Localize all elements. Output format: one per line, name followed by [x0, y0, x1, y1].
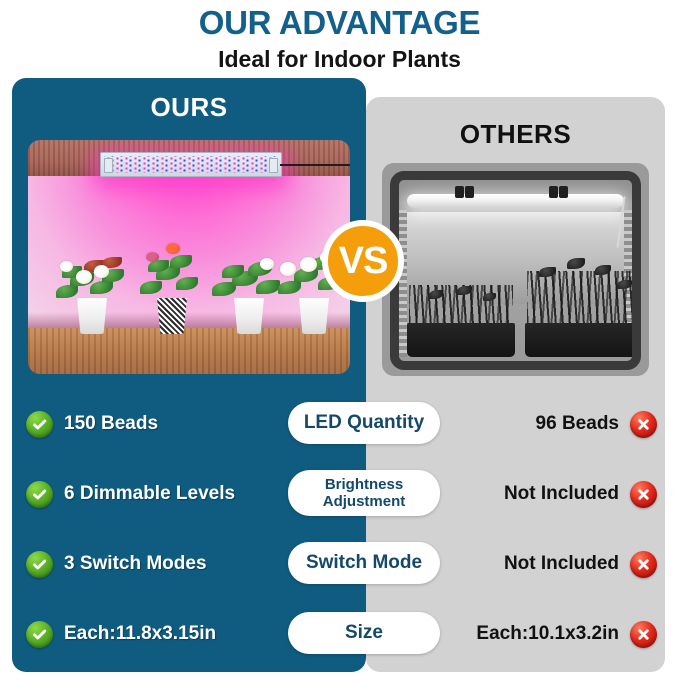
- others-value-group: Not Included: [504, 466, 657, 522]
- plant-leaf: [140, 281, 162, 294]
- white-flower: [300, 257, 317, 272]
- comparison-row: Each:11.8x3.15in Size Each:10.1x3.2in: [0, 606, 679, 662]
- x-circle-icon: [630, 481, 657, 508]
- comparison-row: 6 Dimmable Levels Brightness Adjustment …: [0, 466, 679, 522]
- led-end-cap: [269, 158, 278, 173]
- plant-leaf: [176, 277, 198, 290]
- wood-table: [28, 328, 350, 374]
- comparison-row: 3 Switch Modes Switch Mode Not Included: [0, 536, 679, 592]
- plant-pot: [232, 298, 266, 334]
- comparison-row: 150 Beads LED Quantity 96 Beads: [0, 396, 679, 452]
- tube-clip-icon: [559, 186, 568, 198]
- ours-value: 6 Dimmable Levels: [64, 483, 235, 505]
- white-flower: [280, 262, 296, 276]
- plant-leaf: [56, 285, 78, 298]
- others-value-group: 96 Beads: [536, 396, 657, 452]
- check-circle-icon: [26, 481, 53, 508]
- x-circle-icon: [630, 551, 657, 578]
- check-circle-icon: [26, 411, 53, 438]
- white-flower: [60, 261, 73, 272]
- feature-label-text: Size: [345, 622, 383, 644]
- tube-clip-icon: [549, 186, 558, 198]
- ours-value-group: Each:11.8x3.15in: [26, 606, 216, 662]
- feature-label-pill: Brightness Adjustment: [288, 470, 440, 516]
- grow-box-frame: [390, 171, 641, 370]
- others-value: Each:10.1x3.2in: [476, 623, 619, 645]
- seedling-tray: [525, 323, 637, 357]
- tube-clip-icon: [455, 186, 464, 198]
- plant-leaf: [90, 281, 113, 294]
- check-circle-icon: [26, 621, 53, 648]
- white-flower: [260, 258, 274, 270]
- x-circle-icon: [630, 411, 657, 438]
- ours-value-group: 150 Beads: [26, 396, 158, 452]
- potted-plant: [54, 226, 130, 334]
- others-value: Not Included: [504, 483, 619, 505]
- pink-bud: [146, 252, 159, 262]
- others-value-group: Each:10.1x3.2in: [476, 606, 657, 662]
- feature-label-pill: LED Quantity: [288, 402, 440, 444]
- feature-label-line2: Adjustment: [323, 493, 406, 510]
- ours-value: 150 Beads: [64, 413, 158, 435]
- ours-panel-title: OURS: [12, 92, 366, 123]
- led-end-cap: [104, 158, 113, 173]
- feature-label-text: LED Quantity: [304, 412, 424, 434]
- check-circle-icon: [26, 551, 53, 578]
- others-value: 96 Beads: [536, 413, 619, 435]
- led-bead-grid: [104, 156, 278, 173]
- seedling-tray: [407, 323, 515, 357]
- ours-value: 3 Switch Modes: [64, 553, 207, 575]
- feature-label-pill: Size: [288, 612, 440, 654]
- tube-clip-icon: [465, 186, 474, 198]
- feature-label-line1: Brightness: [325, 476, 403, 493]
- feature-label-text: Switch Mode: [306, 552, 422, 574]
- plant-pot: [75, 298, 109, 334]
- ours-photo: [28, 140, 350, 374]
- seedling-cluster: [527, 271, 635, 327]
- plant-leaf: [278, 281, 301, 294]
- white-flower: [94, 265, 109, 278]
- feature-label-pill: Switch Mode: [288, 542, 440, 584]
- others-value: Not Included: [504, 553, 619, 575]
- orange-flower: [166, 243, 180, 254]
- comparison-board: OTHERS: [0, 0, 679, 690]
- ours-value-group: 3 Switch Modes: [26, 536, 207, 592]
- white-flower: [76, 270, 92, 284]
- fluorescent-tube-icon: [407, 194, 624, 208]
- led-grow-light-icon: [100, 152, 282, 177]
- vs-badge: VS: [322, 220, 404, 302]
- plant-leaf: [170, 255, 192, 268]
- plant-pot: [297, 298, 331, 334]
- led-power-wire: [280, 164, 350, 166]
- feature-label-text: Brightness Adjustment: [323, 476, 406, 511]
- grow-box-rail: [399, 210, 407, 357]
- ours-value: Each:11.8x3.15in: [64, 623, 216, 645]
- x-circle-icon: [630, 621, 657, 648]
- potted-plant: [136, 218, 208, 334]
- plant-pot-patterned: [155, 298, 189, 334]
- others-value-group: Not Included: [504, 536, 657, 592]
- others-panel-title: OTHERS: [366, 119, 665, 150]
- others-photo: [382, 163, 649, 376]
- ours-value-group: 6 Dimmable Levels: [26, 466, 235, 522]
